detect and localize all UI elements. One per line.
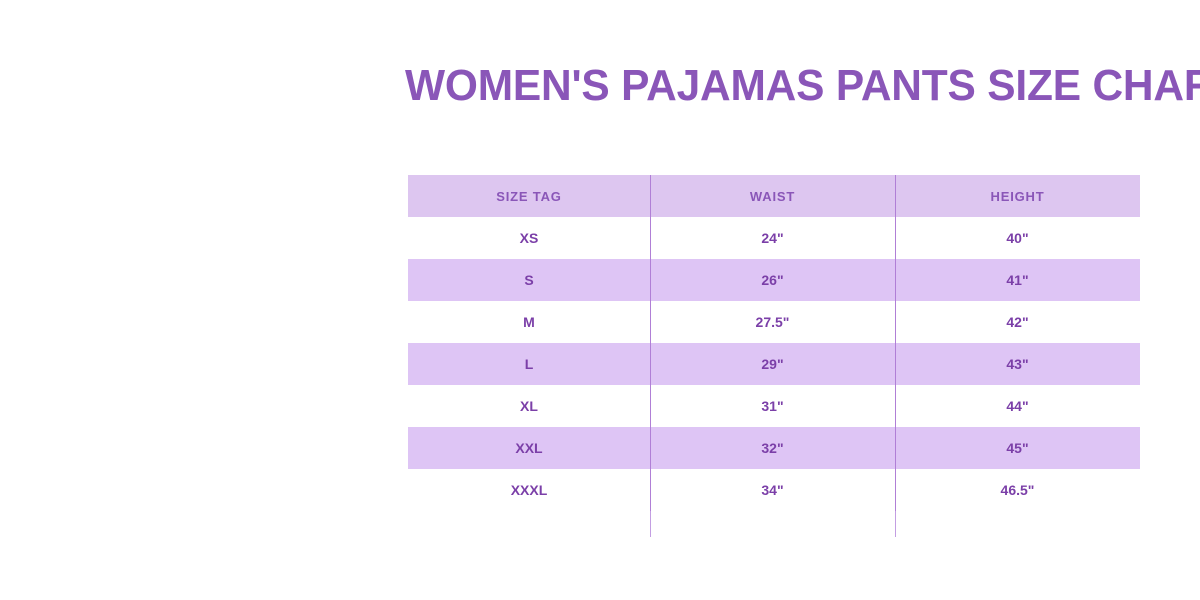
table-row: XXXL 34" 46.5" xyxy=(408,469,1140,511)
cell-height: 40" xyxy=(895,217,1140,259)
cell-height: 41" xyxy=(895,259,1140,301)
table-row: XS 24" 40" xyxy=(408,217,1140,259)
cell-size-tag: L xyxy=(408,343,650,385)
cell-size-tag: XS xyxy=(408,217,650,259)
table-row: XL 31" 44" xyxy=(408,385,1140,427)
cell-waist: 26" xyxy=(650,259,895,301)
cell-waist: 34" xyxy=(650,469,895,511)
cell-size-tag: XXL xyxy=(408,427,650,469)
size-chart-table: SIZE TAG WAIST HEIGHT XS 24" 40" S 26" 4… xyxy=(408,175,1140,511)
cell-waist: 24" xyxy=(650,217,895,259)
cell-height: 42" xyxy=(895,301,1140,343)
table-row: M 27.5" 42" xyxy=(408,301,1140,343)
cell-waist: 31" xyxy=(650,385,895,427)
cell-height: 46.5" xyxy=(895,469,1140,511)
page-title: WOMEN'S PAJAMAS PANTS SIZE CHART xyxy=(405,62,1160,110)
table-row: XXL 32" 45" xyxy=(408,427,1140,469)
column-header-size-tag: SIZE TAG xyxy=(408,175,650,217)
cell-height: 45" xyxy=(895,427,1140,469)
column-divider-tail-2 xyxy=(895,511,896,537)
column-header-waist: WAIST xyxy=(650,175,895,217)
cell-height: 43" xyxy=(895,343,1140,385)
table-row: L 29" 43" xyxy=(408,343,1140,385)
column-divider-tail-1 xyxy=(650,511,651,537)
column-header-height: HEIGHT xyxy=(895,175,1140,217)
cell-size-tag: XL xyxy=(408,385,650,427)
cell-waist: 32" xyxy=(650,427,895,469)
size-chart-root: WOMEN'S PAJAMAS PANTS SIZE CHART SIZE TA… xyxy=(0,0,1200,600)
table-header-row: SIZE TAG WAIST HEIGHT xyxy=(408,175,1140,217)
cell-waist: 27.5" xyxy=(650,301,895,343)
table-body: XS 24" 40" S 26" 41" M 27.5" 42" L 29" 4… xyxy=(408,217,1140,511)
cell-size-tag: M xyxy=(408,301,650,343)
cell-height: 44" xyxy=(895,385,1140,427)
cell-size-tag: XXXL xyxy=(408,469,650,511)
table-header: SIZE TAG WAIST HEIGHT xyxy=(408,175,1140,217)
cell-size-tag: S xyxy=(408,259,650,301)
table-row: S 26" 41" xyxy=(408,259,1140,301)
cell-waist: 29" xyxy=(650,343,895,385)
